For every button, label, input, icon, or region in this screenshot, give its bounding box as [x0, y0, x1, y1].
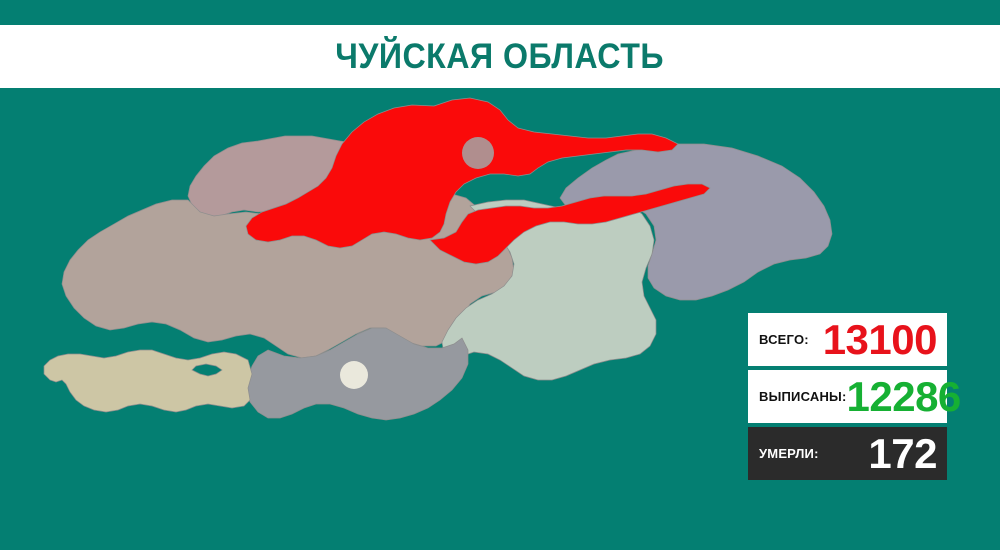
stats-panel: ВСЕГО: 13100 ВЫПИСАНЫ: 12286 УМЕРЛИ: 172 — [748, 313, 947, 484]
city-marker-osh[interactable] — [340, 361, 368, 389]
title-band: ЧУЙСКАЯ ОБЛАСТЬ — [0, 25, 1000, 88]
infographic-root: ЧУЙСКАЯ ОБЛАСТЬ ВСЕГО: — [0, 0, 1000, 550]
stat-label-recovered: ВЫПИСАНЫ: — [759, 389, 847, 404]
stat-row-deaths: УМЕРЛИ: 172 — [748, 427, 947, 480]
stat-row-recovered: ВЫПИСАНЫ: 12286 — [748, 370, 947, 423]
stat-value-total: 13100 — [823, 319, 937, 361]
page-title: ЧУЙСКАЯ ОБЛАСТЬ — [336, 37, 665, 77]
stat-label-deaths: УМЕРЛИ: — [759, 446, 819, 461]
stat-value-recovered: 12286 — [847, 376, 961, 418]
stat-value-deaths: 172 — [868, 433, 937, 475]
map-region-batken[interactable] — [44, 350, 252, 412]
top-accent-strip — [0, 0, 1000, 25]
stat-row-total: ВСЕГО: 13100 — [748, 313, 947, 366]
city-marker-bishkek[interactable] — [462, 137, 494, 169]
stat-label-total: ВСЕГО: — [759, 332, 809, 347]
